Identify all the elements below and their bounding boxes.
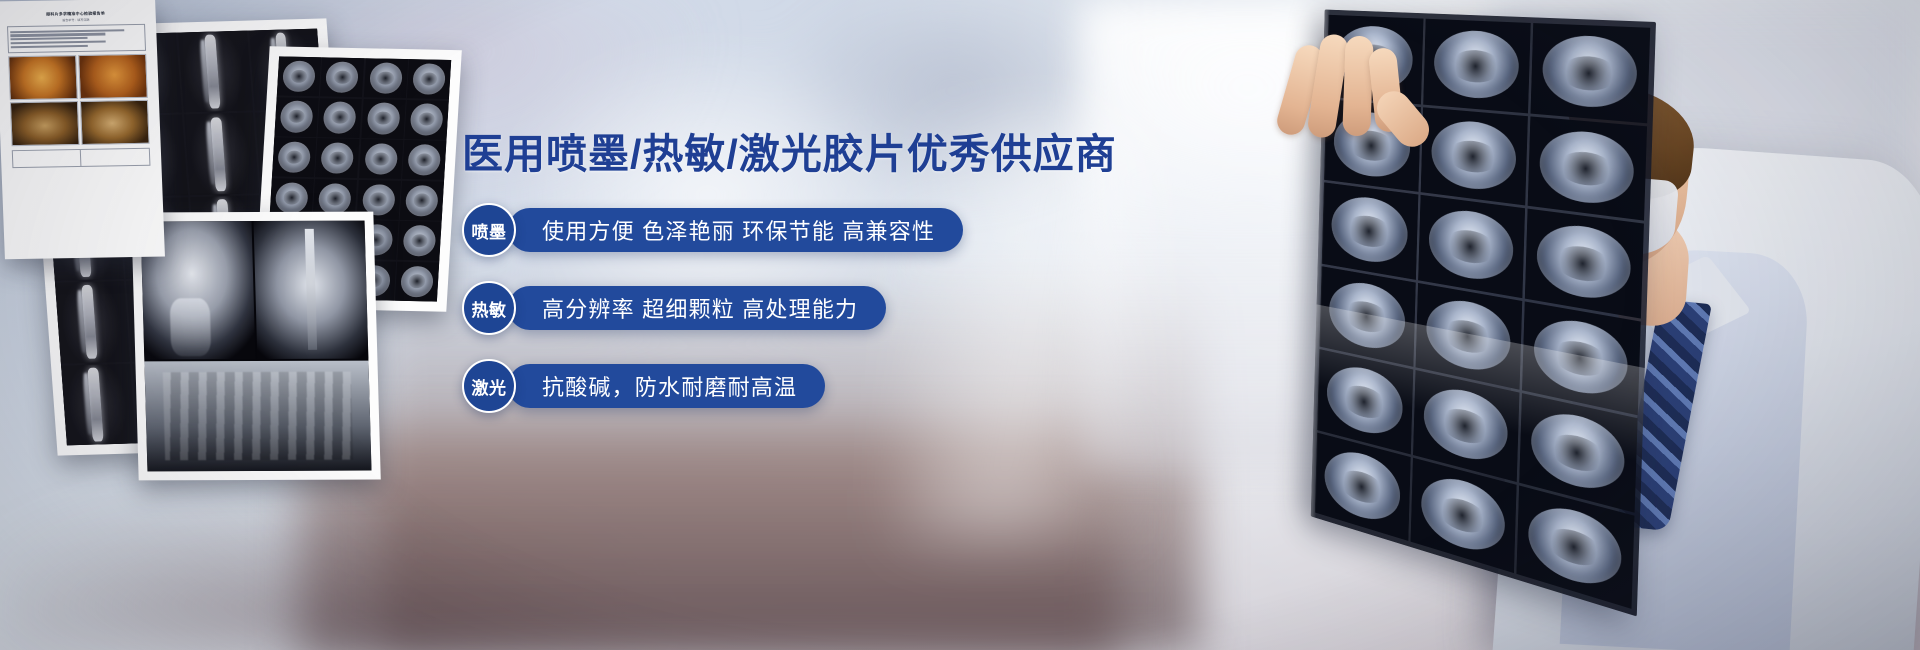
feature-text-inkjet: 使用方便 色泽艳丽 环保节能 高兼容性 <box>508 208 963 252</box>
feature-pill-thermal[interactable]: 热敏 高分辨率 超细颗粒 高处理能力 <box>462 281 1082 335</box>
banner-headline: 医用喷墨/热敏/激光胶片优秀供应商 <box>462 130 1082 179</box>
feature-tag-laser: 激光 <box>462 359 516 413</box>
feature-text-thermal: 高分辨率 超细颗粒 高处理能力 <box>508 286 886 330</box>
hero-banner: 眼科片多求精准中心检验报告单 报告单号：填写日期 <box>0 0 1920 650</box>
feature-tag-inkjet: 喷墨 <box>462 203 516 257</box>
feature-pill-laser[interactable]: 激光 抗酸碱，防水耐磨耐高温 <box>462 359 1082 413</box>
banner-copy: 医用喷墨/热敏/激光胶片优秀供应商 喷墨 使用方便 色泽艳丽 环保节能 高兼容性… <box>462 130 1082 413</box>
feature-pill-list: 喷墨 使用方便 色泽艳丽 环保节能 高兼容性 热敏 高分辨率 超细颗粒 高处理能… <box>462 203 1082 413</box>
feature-tag-thermal: 热敏 <box>462 281 516 335</box>
feature-text-laser: 抗酸碱，防水耐磨耐高温 <box>508 364 825 408</box>
feature-pill-inkjet[interactable]: 喷墨 使用方便 色泽艳丽 环保节能 高兼容性 <box>462 203 1082 257</box>
